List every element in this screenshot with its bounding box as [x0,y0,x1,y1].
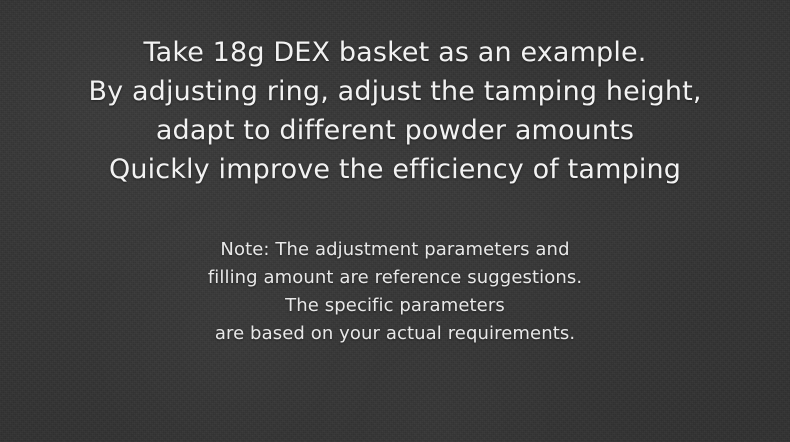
headline-line-4: Quickly improve the efficiency of tampin… [0,150,790,189]
instruction-poster: Take 18g DEX basket as an example. By ad… [0,0,790,442]
headline-line-2: By adjusting ring, adjust the tamping he… [0,72,790,111]
note-line-2: filling amount are reference suggestions… [0,264,790,292]
note-block: Note: The adjustment parameters and fill… [0,236,790,348]
note-line-4: are based on your actual requirements. [0,320,790,348]
note-line-3: The specific parameters [0,292,790,320]
headline-line-3: adapt to different powder amounts [0,111,790,150]
note-line-1: Note: The adjustment parameters and [0,236,790,264]
headline-block: Take 18g DEX basket as an example. By ad… [0,33,790,189]
headline-line-1: Take 18g DEX basket as an example. [0,33,790,72]
